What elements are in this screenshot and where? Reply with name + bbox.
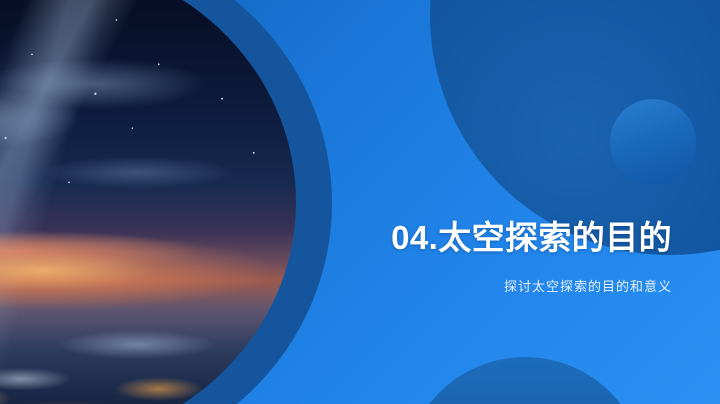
dark-blue-circle-bottom (404, 357, 646, 404)
night-sky-photo (0, 0, 296, 404)
starfield-icon (0, 0, 296, 404)
presentation-slide: 04.太空探索的目的 探讨太空探索的目的和意义 (0, 0, 720, 404)
small-blue-circle (610, 99, 696, 185)
